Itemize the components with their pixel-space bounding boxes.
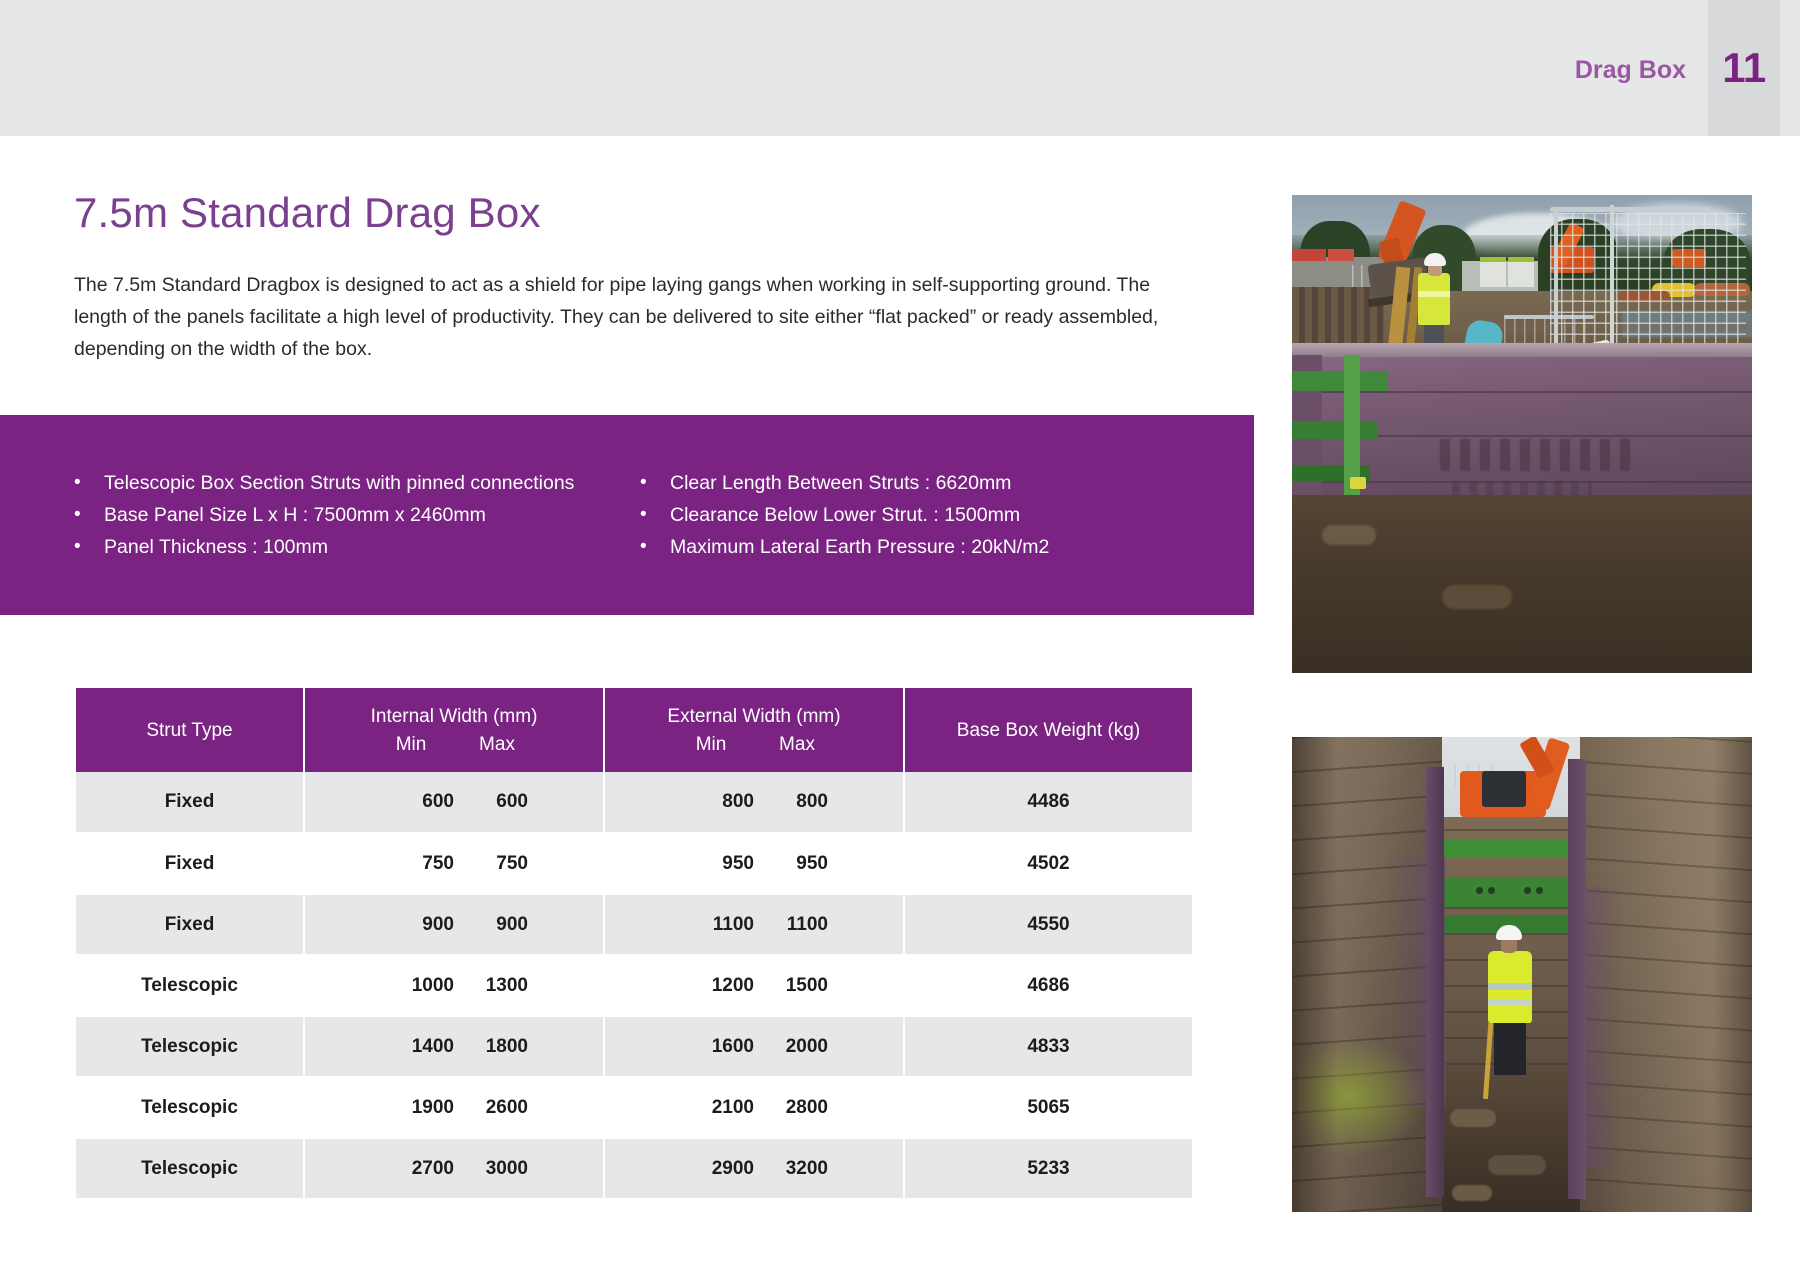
- feature-band: • Telescopic Box Section Struts with pin…: [0, 415, 1254, 615]
- bullet-icon: •: [640, 467, 670, 499]
- cell-internal-width: 27003000: [304, 1138, 604, 1199]
- col-subheader-min: Min: [368, 731, 454, 758]
- cell-external-min: 950: [680, 853, 754, 875]
- cell-external-width: 12001500: [604, 955, 904, 1016]
- cell-internal-min: 2700: [380, 1158, 454, 1180]
- cell-internal-min: 900: [380, 914, 454, 936]
- list-item: • Clear Length Between Struts : 6620mm: [640, 467, 1254, 499]
- cell-external-max: 1500: [754, 975, 828, 997]
- table-row: Telescopic 10001300 12001500 4686: [76, 955, 1192, 1016]
- cell-strut-type: Telescopic: [76, 1077, 304, 1138]
- cell-internal-width: 19002600: [304, 1077, 604, 1138]
- cell-weight: 4486: [904, 772, 1192, 833]
- table-row: Fixed 750750 950950 4502: [76, 833, 1192, 894]
- cell-external-min: 1100: [680, 914, 754, 936]
- construction-site-drag-box-photo: [1292, 195, 1752, 673]
- bullet-icon: •: [640, 499, 670, 531]
- cell-external-min: 800: [680, 791, 754, 813]
- cell-internal-min: 1400: [380, 1036, 454, 1058]
- cell-strut-type: Telescopic: [76, 1016, 304, 1077]
- cell-external-max: 950: [754, 853, 828, 875]
- feature-columns: • Telescopic Box Section Struts with pin…: [0, 467, 1254, 563]
- cell-external-width: 950950: [604, 833, 904, 894]
- page-number-chip: 11: [1708, 0, 1780, 136]
- cell-strut-type: Fixed: [76, 772, 304, 833]
- col-header-label: Internal Width (mm): [311, 703, 597, 730]
- feature-text: Telescopic Box Section Struts with pinne…: [104, 467, 640, 499]
- table-row: Telescopic 19002600 21002800 5065: [76, 1077, 1192, 1138]
- cell-internal-width: 750750: [304, 833, 604, 894]
- table-row: Telescopic 27003000 29003200 5233: [76, 1138, 1192, 1199]
- feature-text: Clearance Below Lower Strut. : 1500mm: [670, 499, 1254, 531]
- table-body: Fixed 600600 800800 4486 Fixed 750750 95…: [76, 772, 1192, 1199]
- header-section-title: Drag Box: [1486, 58, 1686, 83]
- cell-strut-type: Telescopic: [76, 955, 304, 1016]
- col-subheaders: MinMax: [311, 731, 597, 758]
- cell-external-width: 29003200: [604, 1138, 904, 1199]
- table-header-row: Strut Type Internal Width (mm) MinMax Ex…: [76, 688, 1192, 772]
- bullet-icon: •: [74, 531, 104, 563]
- cell-internal-min: 1900: [380, 1097, 454, 1119]
- cell-external-max: 800: [754, 791, 828, 813]
- cell-external-max: 1100: [754, 914, 828, 936]
- spec-table: Strut Type Internal Width (mm) MinMax Ex…: [76, 688, 1192, 1200]
- cell-weight: 5065: [904, 1077, 1192, 1138]
- col-header-label: Strut Type: [82, 717, 297, 744]
- col-subheader-max: Max: [454, 731, 540, 758]
- cell-external-width: 16002000: [604, 1016, 904, 1077]
- col-header-external-width: External Width (mm) MinMax: [604, 688, 904, 772]
- cell-external-max: 2000: [754, 1036, 828, 1058]
- cell-internal-max: 750: [454, 853, 528, 875]
- cell-strut-type: Fixed: [76, 833, 304, 894]
- cell-internal-max: 2600: [454, 1097, 528, 1119]
- cell-external-min: 2900: [680, 1158, 754, 1180]
- feature-list-right: • Clear Length Between Struts : 6620mm •…: [640, 467, 1254, 563]
- cell-external-width: 11001100: [604, 894, 904, 955]
- table-row: Telescopic 14001800 16002000 4833: [76, 1016, 1192, 1077]
- col-subheaders: MinMax: [611, 731, 897, 758]
- col-header-base-box-weight: Base Box Weight (kg): [904, 688, 1192, 772]
- cell-weight: 4686: [904, 955, 1192, 1016]
- feature-list-left: • Telescopic Box Section Struts with pin…: [0, 467, 640, 563]
- table-row: Fixed 600600 800800 4486: [76, 772, 1192, 833]
- bullet-icon: •: [74, 467, 104, 499]
- col-header-label: Base Box Weight (kg): [911, 717, 1186, 744]
- page-title: 7.5m Standard Drag Box: [74, 192, 541, 234]
- cell-weight: 5233: [904, 1138, 1192, 1199]
- cell-strut-type: Telescopic: [76, 1138, 304, 1199]
- page-header: Drag Box 11: [0, 0, 1800, 136]
- col-subheader-min: Min: [668, 731, 754, 758]
- list-item: • Panel Thickness : 100mm: [74, 531, 640, 563]
- list-item: • Base Panel Size L x H : 7500mm x 2460m…: [74, 499, 640, 531]
- list-item: • Maximum Lateral Earth Pressure : 20kN/…: [640, 531, 1254, 563]
- cell-internal-max: 3000: [454, 1158, 528, 1180]
- feature-text: Panel Thickness : 100mm: [104, 531, 640, 563]
- cell-internal-width: 600600: [304, 772, 604, 833]
- cell-strut-type: Fixed: [76, 894, 304, 955]
- page-number: 11: [1722, 47, 1765, 89]
- cell-weight: 4502: [904, 833, 1192, 894]
- cell-weight: 4833: [904, 1016, 1192, 1077]
- cell-external-max: 2800: [754, 1097, 828, 1119]
- cell-internal-width: 14001800: [304, 1016, 604, 1077]
- bullet-icon: •: [640, 531, 670, 563]
- cell-internal-width: 10001300: [304, 955, 604, 1016]
- cell-weight: 4550: [904, 894, 1192, 955]
- table-row: Fixed 900900 11001100 4550: [76, 894, 1192, 955]
- list-item: • Telescopic Box Section Struts with pin…: [74, 467, 640, 499]
- cell-internal-max: 600: [454, 791, 528, 813]
- cell-external-min: 1200: [680, 975, 754, 997]
- cell-internal-max: 1300: [454, 975, 528, 997]
- cell-internal-max: 900: [454, 914, 528, 936]
- cell-external-min: 1600: [680, 1036, 754, 1058]
- feature-text: Base Panel Size L x H : 7500mm x 2460mm: [104, 499, 640, 531]
- cell-internal-width: 900900: [304, 894, 604, 955]
- cell-external-max: 3200: [754, 1158, 828, 1180]
- cell-external-width: 800800: [604, 772, 904, 833]
- col-subheader-max: Max: [754, 731, 840, 758]
- feature-text: Maximum Lateral Earth Pressure : 20kN/m2: [670, 531, 1254, 563]
- col-header-strut-type: Strut Type: [76, 688, 304, 772]
- list-item: • Clearance Below Lower Strut. : 1500mm: [640, 499, 1254, 531]
- cell-external-width: 21002800: [604, 1077, 904, 1138]
- cell-internal-min: 750: [380, 853, 454, 875]
- bullet-icon: •: [74, 499, 104, 531]
- cell-external-min: 2100: [680, 1097, 754, 1119]
- feature-text: Clear Length Between Struts : 6620mm: [670, 467, 1254, 499]
- col-header-label: External Width (mm): [611, 703, 897, 730]
- table-header: Strut Type Internal Width (mm) MinMax Ex…: [76, 688, 1192, 772]
- trench-interior-drag-box-photo: [1292, 737, 1752, 1212]
- col-header-internal-width: Internal Width (mm) MinMax: [304, 688, 604, 772]
- cell-internal-min: 600: [380, 791, 454, 813]
- cell-internal-min: 1000: [380, 975, 454, 997]
- cell-internal-max: 1800: [454, 1036, 528, 1058]
- intro-paragraph: The 7.5m Standard Dragbox is designed to…: [74, 269, 1192, 365]
